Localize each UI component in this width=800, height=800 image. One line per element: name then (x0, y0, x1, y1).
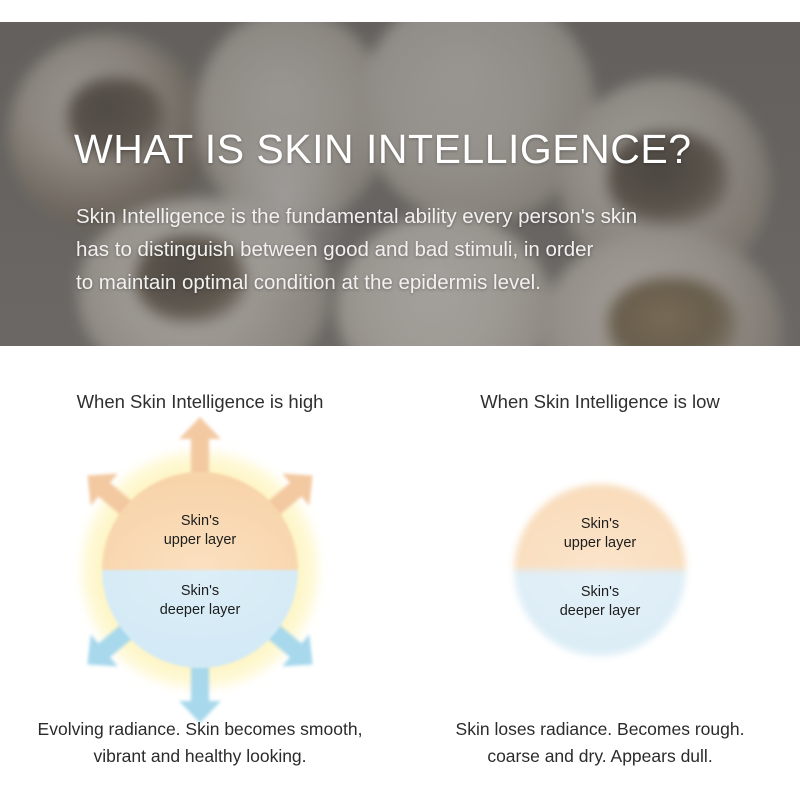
skin-upper-layer-low (514, 484, 686, 570)
panel-low-stage: Skin's upper layer Skin's deeper layer (400, 424, 800, 714)
panel-high: When Skin Intelligence is high (0, 346, 400, 800)
arrow-up-icon (177, 415, 223, 477)
panel-high-caption-line-2: vibrant and healthy looking. (0, 743, 400, 770)
skin-diagram-high: Skin's upper layer Skin's deeper layer (55, 425, 345, 715)
panel-low-caption: Skin loses radiance. Becomes rough. coar… (400, 716, 800, 770)
hero-banner: WHAT IS SKIN INTELLIGENCE? Skin Intellig… (0, 22, 800, 346)
panel-high-header: When Skin Intelligence is high (0, 391, 400, 413)
hero-description-line-2: has to distinguish between good and bad … (76, 233, 706, 266)
panel-low-caption-line-1: Skin loses radiance. Becomes rough. (400, 716, 800, 743)
skin-upper-layer-high (102, 472, 298, 570)
hero-description: Skin Intelligence is the fundamental abi… (76, 200, 706, 299)
hero-content: WHAT IS SKIN INTELLIGENCE? Skin Intellig… (74, 22, 734, 346)
skin-circle-low (514, 484, 686, 656)
comparison-section: When Skin Intelligence is high (0, 346, 800, 800)
panel-low: When Skin Intelligence is low Skin's upp… (400, 346, 800, 800)
skin-diagram-low: Skin's upper layer Skin's deeper layer (485, 455, 715, 685)
panel-high-stage: Skin's upper layer Skin's deeper layer (0, 424, 400, 714)
skin-deeper-layer-high (102, 570, 298, 668)
skin-circle-high (102, 472, 298, 668)
panel-high-caption: Evolving radiance. Skin becomes smooth, … (0, 716, 400, 770)
panel-low-caption-line-2: coarse and dry. Appears dull. (400, 743, 800, 770)
page-title: WHAT IS SKIN INTELLIGENCE? (74, 126, 692, 173)
panel-high-caption-line-1: Evolving radiance. Skin becomes smooth, (0, 716, 400, 743)
hero-description-line-3: to maintain optimal condition at the epi… (76, 266, 706, 299)
skin-deeper-layer-low (514, 570, 686, 656)
hero-description-line-1: Skin Intelligence is the fundamental abi… (76, 200, 706, 233)
panel-low-header: When Skin Intelligence is low (400, 391, 800, 413)
